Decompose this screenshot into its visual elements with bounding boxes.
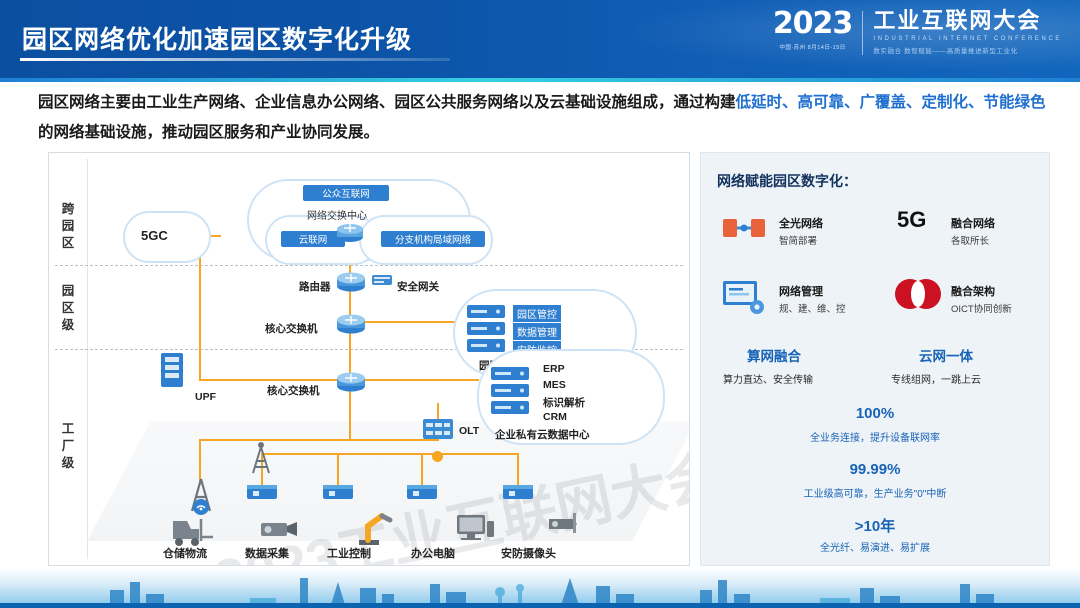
park-dc-tag-0: 园区管控 bbox=[513, 305, 561, 322]
logistics-box-icon bbox=[245, 479, 279, 508]
logo-year-text: 2023 bbox=[773, 6, 853, 41]
capability-title-0: 全光网络 bbox=[779, 215, 823, 231]
capability-sub-1: 各取所长 bbox=[951, 233, 989, 247]
node-label-upf: UPF bbox=[195, 391, 216, 403]
network-architecture-diagram: 跨园区 园区级 工厂级 2023工业互联网大会 5GC 公众互联网 网络交换中心… bbox=[48, 152, 690, 566]
logo-conference-cn: 工业互联网大会 bbox=[873, 9, 1062, 33]
stat-text-0: 全业务连接，提升设备联网率 bbox=[701, 429, 1049, 444]
node-label-security-gateway: 安全网关 bbox=[397, 279, 439, 294]
stat-number-0: 100% bbox=[701, 405, 1049, 422]
capability-title-3: 融合架构 bbox=[951, 283, 995, 299]
junction-dot bbox=[432, 451, 443, 462]
private-dc-tag-1: MES bbox=[543, 379, 566, 391]
page-title: 园区网络优化加速园区数字化升级 bbox=[22, 20, 412, 56]
intro-text-1: 园区网络主要由工业生产网络、企业信息办公网络、园区公共服务网络以及云基础设施组成… bbox=[38, 94, 736, 111]
city-skyline-graphic bbox=[0, 568, 1080, 608]
logo-year: 2023 bbox=[773, 9, 853, 39]
node-branch-lan: 分支机构局域网络 bbox=[381, 231, 485, 247]
capability-title-1: 融合网络 bbox=[951, 215, 995, 231]
footer-bar bbox=[0, 603, 1080, 608]
capability-sub-0: 智简部署 bbox=[779, 233, 817, 247]
node-label-5gc: 5GC bbox=[141, 228, 168, 243]
industrial-control-box-icon bbox=[405, 479, 439, 508]
stat-text-2: 全光纤、易演进、易扩展 bbox=[701, 539, 1049, 554]
private-dc-tag-3: CRM bbox=[543, 411, 567, 423]
device-label-3: 办公电脑 bbox=[411, 545, 455, 561]
park-dc-server-icon bbox=[465, 303, 507, 362]
router-icon bbox=[335, 269, 367, 298]
highlight-title-0: 算网融合 bbox=[747, 345, 801, 365]
core-switch-2-icon bbox=[335, 369, 367, 398]
stat-number-1: 99.99% bbox=[701, 461, 1049, 478]
page-footer bbox=[0, 568, 1080, 608]
link-upf-switch2 bbox=[199, 379, 351, 381]
core-switch-1-icon bbox=[335, 311, 367, 340]
node-label-router: 路由器 bbox=[299, 279, 331, 294]
logo-conference-en: INDUSTRIAL INTERNET CONFERENCE bbox=[873, 36, 1062, 42]
highlight-sub-0: 算力直达、安全传输 bbox=[723, 371, 813, 386]
band-label-park-level: 园区级 bbox=[49, 283, 87, 334]
park-dc-tag-1: 数据管理 bbox=[513, 323, 561, 340]
stat-text-1: 工业级高可靠，生产业务"0"中断 bbox=[701, 485, 1049, 500]
fusion-architecture-icon bbox=[891, 277, 947, 316]
capability-panel-title: 网络赋能园区数字化： bbox=[717, 171, 857, 191]
logo-tagline: 数实融合 数智赋能——高质量推进新型工业化 bbox=[873, 45, 1062, 55]
link-device-bus bbox=[261, 453, 519, 455]
logo-year-sub: 中国·苏州 8月14日-15日 bbox=[779, 43, 846, 51]
capability-sub-2: 规、建、维、控 bbox=[779, 301, 846, 315]
private-dc-server-icon bbox=[489, 365, 531, 424]
olt-icon bbox=[421, 415, 455, 448]
capability-sub-3: OICT协同创新 bbox=[951, 301, 1012, 315]
intro-highlight-1: 低延时、高可靠、广 bbox=[736, 94, 876, 111]
stat-number-2: >10年 bbox=[701, 515, 1049, 536]
highlight-title-1: 云网一体 bbox=[919, 345, 973, 365]
page-header: 园区网络优化加速园区数字化升级 2023 中国·苏州 8月14日-15日 工业互… bbox=[0, 0, 1080, 78]
conference-logo: 2023 中国·苏州 8月14日-15日 工业互联网大会 INDUSTRIAL … bbox=[773, 9, 1062, 69]
band-label-factory-level: 工厂级 bbox=[49, 421, 87, 472]
highlight-sub-1: 专线组网，一跳上云 bbox=[891, 371, 981, 386]
band-label-cross-park: 跨园区 bbox=[49, 201, 87, 252]
node-public-internet: 公众互联网 bbox=[303, 185, 389, 201]
network-management-icon bbox=[721, 279, 769, 322]
device-label-4: 安防摄像头 bbox=[501, 545, 556, 561]
title-underline bbox=[20, 58, 450, 61]
desktop-pc-icon bbox=[453, 511, 497, 550]
5g-badge: 5G bbox=[897, 207, 926, 233]
node-label-core-switch-2: 核心交换机 bbox=[267, 383, 320, 398]
exchange-switch-icon bbox=[335, 219, 365, 248]
device-label-0: 仓储物流 bbox=[163, 545, 207, 561]
capability-panel: 网络赋能园区数字化： 全光网络 智简部署 5G 融合网络 各取所长 网络管理 规… bbox=[700, 152, 1050, 566]
band-divider-vertical bbox=[87, 159, 88, 559]
link-switch2-privatedc bbox=[349, 379, 479, 381]
node-label-core-switch-1: 核心交换机 bbox=[265, 321, 318, 336]
node-label-olt: OLT bbox=[459, 425, 479, 437]
device-label-2: 工业控制 bbox=[327, 545, 371, 561]
band-separator-1 bbox=[55, 265, 683, 266]
logo-divider bbox=[862, 11, 863, 55]
upf-icon bbox=[155, 351, 189, 396]
intro-text-3: 的网络基础设施，推动园区服务和产业协同发展。 bbox=[38, 124, 379, 141]
header-accent-line bbox=[0, 78, 1080, 82]
capability-title-2: 网络管理 bbox=[779, 283, 823, 299]
camera-device-icon bbox=[257, 515, 301, 548]
private-dc-tag-0: ERP bbox=[543, 363, 565, 375]
device-label-1: 数据采集 bbox=[245, 545, 289, 561]
intro-paragraph: 园区网络主要由工业生产网络、企业信息办公网络、园区公共服务网络以及云基础设施组成… bbox=[38, 88, 1048, 148]
security-camera-icon bbox=[543, 509, 587, 546]
all-optical-icon bbox=[721, 211, 767, 250]
intro-highlight-2: 覆盖、定制化、节能绿色 bbox=[875, 94, 1046, 111]
security-gateway-icon bbox=[371, 271, 393, 294]
data-collect-box-icon bbox=[321, 479, 355, 508]
node-label-private-cloud-dc: 企业私有云数据中心 bbox=[495, 427, 590, 442]
private-dc-tag-2: 标识解析 bbox=[543, 395, 585, 410]
cell-tower-icon bbox=[245, 441, 277, 480]
office-pc-box-icon bbox=[501, 479, 535, 508]
